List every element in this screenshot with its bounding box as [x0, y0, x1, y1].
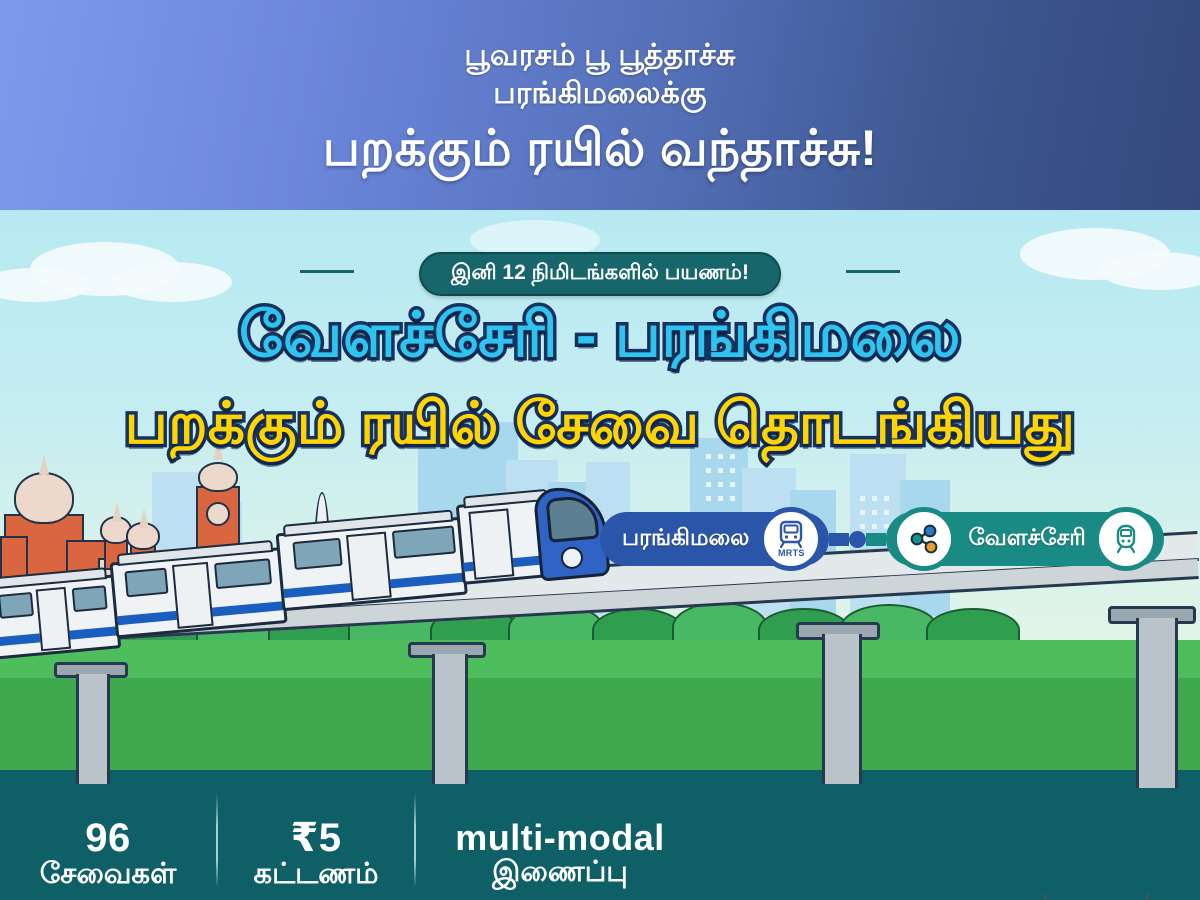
header-line-3: பறக்கும் ரயில் வந்தாச்சு! [323, 120, 877, 178]
header-banner: பூவரசம் பூ பூத்தாச்சு பரங்கிமலைக்கு பறக்… [0, 0, 1200, 210]
stat-services: 96 சேவைகள் [0, 818, 216, 890]
cloud-icon [1100, 252, 1200, 290]
route-origin-sublabel: MRTS [778, 548, 805, 558]
metro-train-icon: MRTS [759, 507, 823, 571]
stat-fare: ₹5 கட்டணம் [218, 818, 414, 890]
headline-line-2: பறக்கும் ரயில் சேவை தொடங்கியது [0, 395, 1200, 453]
header-line-2: பரங்கிமலைக்கு [493, 75, 706, 113]
route-indicator: பரங்கிமலை MRTS [600, 506, 1164, 572]
poster-scene: இனி 12 நிமிடங்களில் பயணம்! வேளச்சேரி - ப… [0, 210, 1200, 900]
stat-fare-label: கட்டணம் [218, 859, 414, 890]
travel-time-badge: இனி 12 நிமிடங்களில் பயணம்! [419, 252, 781, 296]
route-origin-label: பரங்கிமலை [622, 524, 749, 554]
stat-services-value: 96 [0, 818, 216, 859]
stat-multimodal-value: multi-modal [416, 820, 704, 857]
network-node-icon [892, 507, 956, 571]
stat-services-label: சேவைகள் [0, 859, 216, 890]
poster-root: பூவரசம் பூ பூத்தாச்சு பரங்கிமலைக்கு பறக்… [0, 0, 1200, 900]
route-connector [829, 531, 886, 548]
cloud-icon [0, 268, 90, 302]
train-icon [1094, 507, 1158, 571]
header-line-1: பூவரசம் பூ பூத்தாச்சு [464, 37, 735, 75]
headline-line-1: வேளச்சேரி - பரங்கிமலை [0, 305, 1200, 367]
cloud-icon [112, 262, 232, 302]
route-destination-label: வேளச்சேரி [968, 524, 1085, 554]
stat-multimodal-label: இணைப்பு [416, 857, 704, 888]
route-origin-chip[interactable]: பரங்கிமலை MRTS [600, 512, 829, 566]
stat-fare-value: ₹5 [218, 818, 414, 859]
route-destination-chip[interactable]: வேளச்சேரி [886, 512, 1163, 566]
stat-multimodal: multi-modal இணைப்பு [416, 820, 704, 888]
